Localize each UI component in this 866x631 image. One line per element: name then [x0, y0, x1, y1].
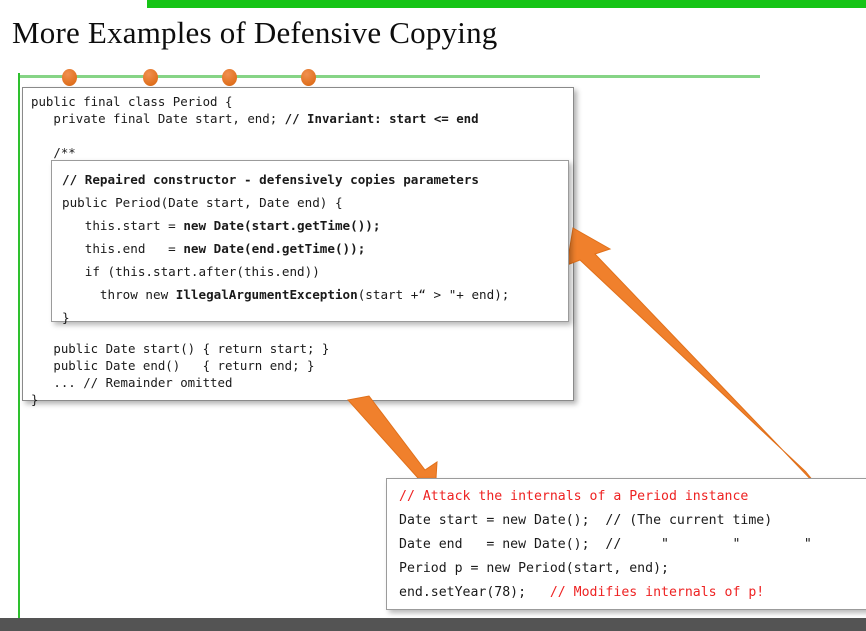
code-block-repaired-constructor: // Repaired constructor - defensively co…	[62, 168, 509, 329]
divider-line	[20, 75, 760, 78]
attack-line-4-code: end.setYear(78);	[399, 585, 550, 600]
top-accent-bar	[147, 0, 866, 8]
attack-comment-line: // Attack the internals of a Period inst…	[399, 489, 748, 504]
bullet-dot-2	[143, 69, 158, 86]
bullet-dot-4	[301, 69, 316, 86]
attack-line-3: Period p = new Period(start, end);	[399, 561, 669, 576]
attack-line-2: Date end = new Date(); // " " "	[399, 537, 812, 552]
attack-line-4-comment: // Modifies internals of p!	[550, 585, 764, 600]
attack-line-1: Date start = new Date(); // (The current…	[399, 513, 772, 528]
arrow-up-left-icon	[567, 228, 818, 487]
code-panel-attack: // Attack the internals of a Period inst…	[386, 478, 866, 610]
slide-canvas: More Examples of Defensive Copying publi…	[0, 0, 866, 631]
bullet-dot-3	[222, 69, 237, 86]
code-block-accessors: public Date start() { return start; } pu…	[31, 340, 329, 408]
code-block-attack: // Attack the internals of a Period inst…	[399, 485, 812, 605]
bullet-dot-1	[62, 69, 77, 86]
page-title: More Examples of Defensive Copying	[12, 15, 712, 51]
code-block-class-header: public final class Period { private fina…	[31, 93, 479, 161]
left-accent-rule	[18, 73, 20, 621]
code-panel-repaired-constructor: // Repaired constructor - defensively co…	[51, 160, 569, 322]
bottom-footer-bar	[0, 618, 866, 631]
